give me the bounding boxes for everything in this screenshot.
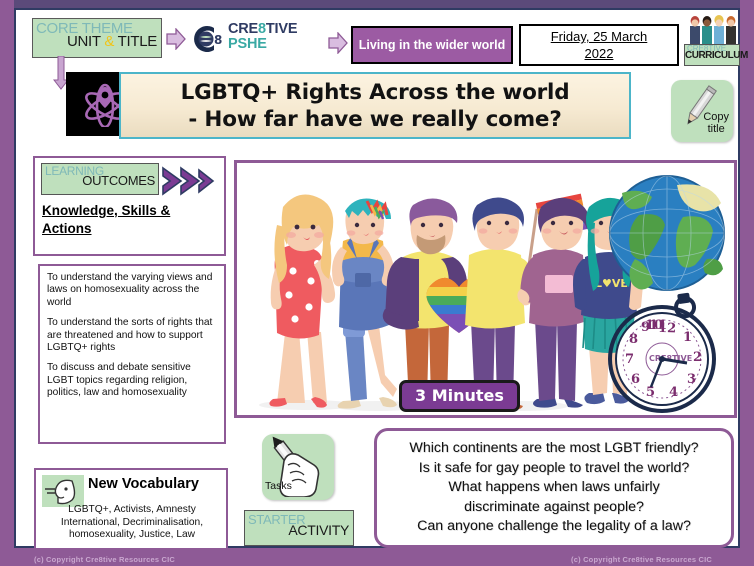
slide-content-area: CORE THEME UNIT & TITLE 8 bbox=[14, 8, 740, 548]
lgbtq-group-illustration: L♥VE bbox=[237, 163, 734, 415]
students-photo-icon bbox=[686, 12, 738, 46]
copy-title-label: Copytitle bbox=[703, 111, 729, 135]
cre8tive-pshe-wordmark: CRE8TIVE PSHE bbox=[228, 22, 297, 52]
new-vocabulary-panel: New Vocabulary LGBTQ+, Activists, Amnest… bbox=[34, 468, 228, 550]
copyright-left: (c) Copyright Cre8tive Resources CIC bbox=[34, 555, 175, 564]
arrow-right-icon-1 bbox=[166, 28, 184, 48]
objective-1: To understand the varying views and laws… bbox=[47, 272, 217, 309]
question-4: discriminate against people? bbox=[464, 498, 644, 518]
svg-text:3: 3 bbox=[687, 372, 696, 387]
svg-text:8: 8 bbox=[629, 332, 638, 347]
vocabulary-words: LGBTQ+, Activists, Amnesty International… bbox=[41, 504, 223, 542]
unit-title-box: Living in the wider world bbox=[351, 26, 513, 64]
objective-3: To discuss and debate sensitive LGBT top… bbox=[47, 362, 217, 399]
page-title: LGBTQ+ Rights Across the world - How far… bbox=[119, 72, 631, 139]
left-border-band bbox=[0, 0, 14, 566]
copyright-right: (c) Copyright Cre8tive Resources CIC bbox=[571, 555, 712, 564]
header-bar: CORE THEME UNIT & TITLE 8 bbox=[16, 10, 738, 70]
svg-text:6: 6 bbox=[631, 372, 640, 387]
learning-outcomes-panel: LEARNING OUTCOMES Knowledge, Skills & Ac… bbox=[33, 156, 226, 256]
starter-questions-panel: Which continents are the most LGBT frien… bbox=[374, 428, 734, 548]
right-border-band bbox=[740, 0, 754, 566]
question-5: Can anyone challenge the legality of a l… bbox=[417, 517, 691, 537]
date-line1: Friday, 25 March bbox=[551, 29, 648, 44]
tasks-button[interactable]: Tasks bbox=[262, 434, 334, 500]
objectives-panel: To understand the varying views and laws… bbox=[38, 264, 226, 444]
double-chevron-right-icon bbox=[161, 166, 223, 201]
question-2: Is it safe for gay people to travel the … bbox=[419, 459, 690, 479]
cre8tive-curriculum-badge: CRE8TIVE CURRICULUM bbox=[684, 44, 740, 66]
date-line2: 2022 bbox=[585, 46, 614, 61]
objective-2: To understand the sorts of rights that a… bbox=[47, 317, 217, 354]
question-3: What happens when laws unfairly bbox=[448, 478, 659, 498]
svg-text:5: 5 bbox=[646, 385, 655, 400]
starter-activity-badge: STARTER ACTIVITY bbox=[244, 510, 354, 546]
cre8tive-curriculum-logo: CRE8TIVE CURRICULUM bbox=[684, 12, 740, 70]
speaking-head-icon bbox=[42, 475, 84, 507]
title-line-1: LGBTQ+ Rights Across the world bbox=[181, 79, 570, 106]
svg-text:8: 8 bbox=[214, 33, 222, 47]
top-border-band bbox=[0, 0, 754, 8]
copy-title-button[interactable]: Copytitle bbox=[671, 80, 733, 142]
svg-text:7: 7 bbox=[625, 352, 634, 367]
svg-text:2: 2 bbox=[693, 350, 702, 365]
love-shirt-text: L♥VE bbox=[595, 277, 628, 290]
learning-outcomes-heading: Knowledge, Skills & Actions bbox=[42, 202, 222, 238]
cre8tive-circle-logo: 8 bbox=[188, 22, 222, 56]
vocabulary-title: New Vocabulary bbox=[88, 476, 199, 492]
arrow-right-icon-2 bbox=[328, 32, 346, 52]
title-line-2: - How far have we really come? bbox=[188, 106, 561, 133]
cre8tive-pshe-logo: 8 CRE8TIVE PSHE bbox=[188, 20, 338, 58]
svg-text:4: 4 bbox=[669, 385, 678, 400]
learning-outcomes-badge: LEARNING OUTCOMES bbox=[41, 163, 159, 195]
tasks-label: Tasks bbox=[265, 480, 292, 492]
svg-text:11: 11 bbox=[649, 318, 667, 333]
timer-badge: 3 Minutes bbox=[399, 380, 520, 412]
core-theme-badge: CORE THEME UNIT & TITLE bbox=[32, 18, 162, 58]
slide-root: (c) Copyright Cre8tive Resources CIC (c)… bbox=[0, 0, 754, 566]
question-1: Which continents are the most LGBT frien… bbox=[409, 439, 698, 459]
globe-icon bbox=[610, 176, 724, 290]
date-box: Friday, 25 March 2022 bbox=[519, 24, 679, 66]
svg-text:1: 1 bbox=[683, 330, 692, 345]
cc-line2: CURRICULUM bbox=[685, 51, 739, 61]
